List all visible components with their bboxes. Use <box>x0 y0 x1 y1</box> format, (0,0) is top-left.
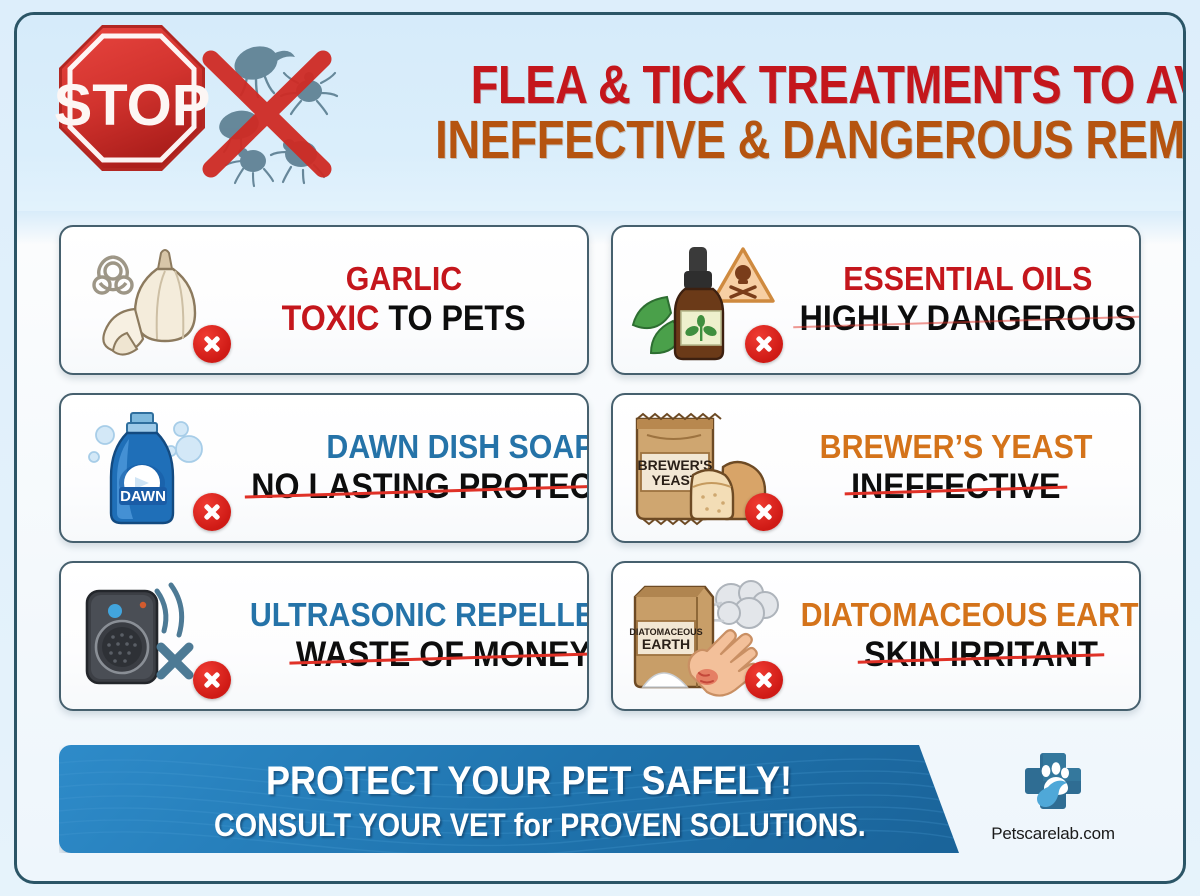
remedy-card-essential-oils[interactable]: ESSENTIAL OILS HIGHLY DANGEROUS <box>611 225 1141 375</box>
red-x-badge-icon <box>193 325 231 363</box>
card-title: GARLIC <box>247 261 562 298</box>
card-text-block: BREWER’S YEAST INEFFECTIVE <box>785 429 1139 506</box>
infographic-root: STOP FLEA & TICK TREATMENTS TO AVOID INE… <box>0 0 1200 896</box>
red-x-badge-icon <box>193 661 231 699</box>
card-sub-token: TOXIC <box>282 299 380 338</box>
card-subtitle: TOXIC TO PETS <box>282 300 526 339</box>
red-x-cross-icon <box>211 59 323 169</box>
bag-label-line-2: EARTH <box>642 636 690 652</box>
card-subtitle: SKIN IRRITANT <box>864 636 1098 675</box>
card-subtitle: WASTE OF MONEY <box>296 636 589 675</box>
remedy-card-brewers-yeast[interactable]: BREWER'S YEAST BREWER’S YEAST INEFFECTIV… <box>611 393 1141 543</box>
remedy-card-diatomaceous-earth[interactable]: DIATOMACEOUS EARTH DIATOMACEOUS EARTH SK… <box>611 561 1141 711</box>
brand-block[interactable]: Petscarelab.com <box>967 749 1139 844</box>
red-x-badge-icon <box>193 493 231 531</box>
page-title-line-1: FLEA & TICK TREATMENTS TO AVOID <box>435 58 1186 113</box>
card-title-token: DAWN DISH SOAP <box>326 428 589 465</box>
dust-cloud-icon <box>716 581 778 628</box>
remedy-card-dawn-dish-soap[interactable]: DAWN DAWN DISH SOAP NO LASTING PROTECTIO… <box>59 393 589 543</box>
grey-x-icon <box>161 647 189 675</box>
card-subtitle: NO LASTING PROTECTION <box>251 468 589 507</box>
card-sub-token: TO PETS <box>380 299 526 338</box>
card-text-block: ESSENTIAL OILS HIGHLY DANGEROUS <box>785 261 1141 338</box>
card-subtitle: HIGHLY DANGEROUS <box>800 300 1136 339</box>
page-title-line-2: INEFFECTIVE & DANGEROUS REMEDIES <box>435 113 1186 168</box>
card-icon-dish-soap-bottle-icon: DAWN <box>75 405 233 531</box>
dropper-bottle-icon <box>675 247 723 359</box>
brand-name: Petscarelab.com <box>967 824 1139 844</box>
header-title-block: FLEA & TICK TREATMENTS TO AVOID INEFFECT… <box>351 58 1186 168</box>
card-text-block: GARLIC TOXIC TO PETS <box>233 261 587 338</box>
card-title: BREWER’S YEAST <box>799 429 1114 466</box>
card-title-token: ULTRASONIC REPELLERS <box>250 596 589 633</box>
red-x-badge-icon <box>745 325 783 363</box>
svg-text:DAWN: DAWN <box>120 488 166 505</box>
card-icon-diatomaceous-earth-bag-icon: DIATOMACEOUS EARTH <box>627 573 785 699</box>
biohazard-icon <box>94 257 132 293</box>
card-title-token: DIATOMACEOUS EARTH <box>801 596 1141 633</box>
card-title-token: BREWER’S YEAST <box>820 428 1093 465</box>
footer-section: PROTECT YOUR PET SAFELY! CONSULT YOUR VE… <box>59 745 1143 861</box>
card-title: ULTRASONIC REPELLERS <box>250 597 589 634</box>
card-icon-brewers-yeast-bag-icon: BREWER'S YEAST <box>627 405 785 531</box>
footer-headline: PROTECT YOUR PET SAFELY! <box>214 757 844 806</box>
card-text-block: DAWN DISH SOAP NO LASTING PROTECTION <box>233 429 589 506</box>
remedy-card-ultrasonic-repellers[interactable]: ULTRASONIC REPELLERS WASTE OF MONEY <box>59 561 589 711</box>
stop-sign-icon: STOP <box>51 21 351 206</box>
card-title-token: ESSENTIAL OILS <box>843 260 1092 297</box>
red-x-badge-icon <box>745 661 783 699</box>
remedy-cards-grid: GARLIC TOXIC TO PETS <box>17 225 1183 711</box>
stop-and-pests-graphic: STOP <box>51 21 351 206</box>
card-icon-ultrasonic-repeller-device-icon <box>75 573 233 699</box>
footer-subheadline: CONSULT YOUR VET for PROVEN SOLUTIONS. <box>214 806 844 844</box>
red-x-badge-icon <box>745 493 783 531</box>
infographic-frame: STOP FLEA & TICK TREATMENTS TO AVOID INE… <box>14 12 1186 884</box>
card-title: DAWN DISH SOAP <box>251 429 589 466</box>
dish-soap-bottle-icon: DAWN <box>111 413 173 523</box>
medical-cross-paw-pet-logo-icon <box>1018 749 1088 817</box>
card-subtitle: INEFFECTIVE <box>851 468 1060 507</box>
card-title-token: GARLIC <box>346 260 462 297</box>
card-icon-garlic-bulb-icon <box>75 237 233 363</box>
card-title: DIATOMACEOUS EARTH <box>801 597 1141 634</box>
card-title: ESSENTIAL OILS <box>800 261 1136 298</box>
card-text-block: DIATOMACEOUS EARTH SKIN IRRITANT <box>785 597 1141 674</box>
card-text-block: ULTRASONIC REPELLERS WASTE OF MONEY <box>233 597 589 674</box>
header-section: STOP FLEA & TICK TREATMENTS TO AVOID INE… <box>17 15 1183 211</box>
remedy-card-garlic[interactable]: GARLIC TOXIC TO PETS <box>59 225 589 375</box>
stop-sign-label: STOP <box>54 73 211 138</box>
poison-warning-triangle-icon <box>713 249 773 301</box>
footer-call-to-action: PROTECT YOUR PET SAFELY! CONSULT YOUR VE… <box>179 757 879 844</box>
ultrasonic-repeller-device-icon <box>87 591 157 683</box>
card-icon-dropper-bottle-icon <box>627 237 785 363</box>
